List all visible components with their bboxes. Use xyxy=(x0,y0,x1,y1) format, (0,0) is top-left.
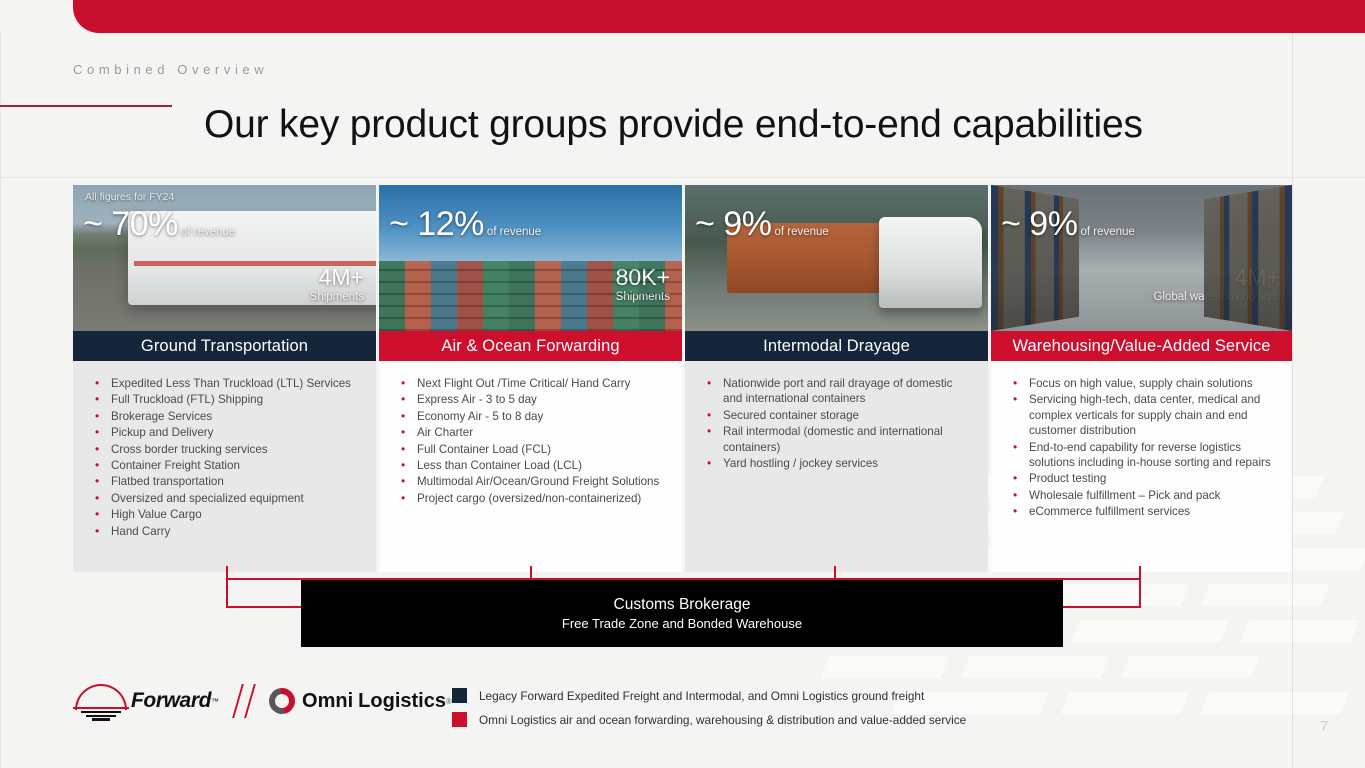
legend-label: Legacy Forward Expedited Freight and Int… xyxy=(479,689,924,703)
left-rule xyxy=(0,33,1,768)
brand-logos: Forward ™ Omni Logistics ® xyxy=(73,683,452,719)
legend-row-legacy-forward: Legacy Forward Expedited Freight and Int… xyxy=(452,688,966,703)
revenue-percent: ~ 9% xyxy=(695,205,771,244)
customs-brokerage-banner[interactable]: Customs Brokerage Free Trade Zone and Bo… xyxy=(301,580,1063,647)
revenue-percent-caption: of revenue xyxy=(1080,226,1134,238)
list-item: End-to-end capability for reverse logist… xyxy=(1011,440,1278,471)
list-item: Nationwide port and rail drayage of dome… xyxy=(705,376,974,407)
omni-wordmark-bold: Omni xyxy=(302,690,353,713)
revenue-percent-caption: of revenue xyxy=(181,226,235,238)
list-item: Multimodal Air/Ocean/Ground Freight Solu… xyxy=(399,474,668,489)
metric-label: Global warehousing sqft. xyxy=(1153,289,1280,305)
list-item: Pickup and Delivery xyxy=(93,425,362,440)
card-body: Focus on high value, supply chain soluti… xyxy=(991,361,1292,572)
list-item: Expedited Less Than Truckload (LTL) Serv… xyxy=(93,376,362,391)
list-item: High Value Cargo xyxy=(93,507,362,522)
feature-list: Expedited Less Than Truckload (LTL) Serv… xyxy=(93,376,362,539)
list-item: Flatbed transportation xyxy=(93,474,362,489)
metric-label: Shipments xyxy=(616,289,670,305)
card-ground-transportation[interactable]: All figures for FY24 ~ 70% of revenue 4M… xyxy=(73,185,376,572)
feature-list: Next Flight Out /Time Critical/ Hand Car… xyxy=(399,376,668,506)
customs-title: Customs Brokerage xyxy=(614,595,751,615)
legend: Legacy Forward Expedited Freight and Int… xyxy=(452,688,966,736)
card-header-bar: Ground Transportation xyxy=(73,331,376,361)
card-metric: 4M+ Shipments xyxy=(310,265,364,305)
list-item: Container Freight Station xyxy=(93,458,362,473)
list-item: Express Air - 3 to 5 day xyxy=(399,392,668,407)
card-warehousing-value-added-service[interactable]: ~ 9% of revenue 4M+ Global warehousing s… xyxy=(991,185,1292,572)
omni-trademark: ® xyxy=(446,697,452,706)
list-item: Project cargo (oversized/non-containeriz… xyxy=(399,491,668,506)
revenue-percent: ~ 70% xyxy=(83,205,178,244)
forward-logo: Forward ™ xyxy=(73,683,219,719)
metric-label: Shipments xyxy=(909,289,976,305)
omni-swirl-icon xyxy=(269,688,295,714)
card-photo-drayage-truck: ~ 9% of revenue 250K+ Shipments xyxy=(685,185,988,331)
list-item: eCommerce fulfillment services xyxy=(1011,504,1278,519)
list-item: Focus on high value, supply chain soluti… xyxy=(1011,376,1278,391)
revenue-percent: ~ 12% xyxy=(389,205,484,244)
logo-divider-slashes xyxy=(229,684,263,718)
list-item: Wholesale fulfillment – Pick and pack xyxy=(1011,488,1278,503)
card-photo-truck: All figures for FY24 ~ 70% of revenue 4M… xyxy=(73,185,376,331)
card-body: Next Flight Out /Time Critical/ Hand Car… xyxy=(379,361,682,572)
list-item: Less than Container Load (LCL) xyxy=(399,458,668,473)
card-air-ocean-forwarding[interactable]: ~ 12% of revenue 80K+ Shipments Air & Oc… xyxy=(379,185,682,572)
list-item: Yard hostling / jockey services xyxy=(705,456,974,471)
page-number: 7 xyxy=(1320,718,1328,735)
connector-bracket-left-foot xyxy=(226,606,304,608)
revenue-share: ~ 9% of revenue xyxy=(1001,205,1135,244)
list-item: Servicing high-tech, data center, medica… xyxy=(1011,392,1278,438)
forward-wordmark: Forward xyxy=(131,689,211,713)
list-item: Full Container Load (FCL) xyxy=(399,442,668,457)
metric-value: 4M+ xyxy=(310,265,364,289)
right-rule xyxy=(1292,33,1293,768)
list-item: Economy Air - 5 to 8 day xyxy=(399,409,668,424)
list-item: Air Charter xyxy=(399,425,668,440)
card-header-bar: Intermodal Drayage xyxy=(685,331,988,361)
connector-bracket-left-leg xyxy=(226,578,228,608)
content-band-rule xyxy=(0,177,1365,178)
list-item: Full Truckload (FTL) Shipping xyxy=(93,392,362,407)
list-item: Product testing xyxy=(1011,471,1278,486)
card-photo-plane-containers: ~ 12% of revenue 80K+ Shipments xyxy=(379,185,682,331)
top-red-banner xyxy=(73,0,1365,33)
list-item: Next Flight Out /Time Critical/ Hand Car… xyxy=(399,376,668,391)
legend-label: Omni Logistics air and ocean forwarding,… xyxy=(479,713,966,727)
metric-value: 250K+ xyxy=(909,265,976,289)
card-body: Nationwide port and rail drayage of dome… xyxy=(685,361,988,572)
revenue-share: ~ 70% of revenue xyxy=(83,205,235,244)
card-metric: 250K+ Shipments xyxy=(909,265,976,305)
customs-subtitle: Free Trade Zone and Bonded Warehouse xyxy=(562,615,802,633)
card-photo-warehouse: ~ 9% of revenue 4M+ Global warehousing s… xyxy=(991,185,1292,331)
omni-wordmark-light: Logistics xyxy=(358,690,446,713)
connector-drop-card2 xyxy=(530,566,532,579)
connector-bracket-right-leg xyxy=(1139,578,1141,608)
list-item: Cross border trucking services xyxy=(93,442,362,457)
metric-value: 80K+ xyxy=(616,265,670,289)
revenue-percent-caption: of revenue xyxy=(774,226,828,238)
legend-swatch-red xyxy=(452,712,467,727)
forward-sunset-icon xyxy=(73,683,129,719)
revenue-percent-caption: of revenue xyxy=(487,226,541,238)
list-item: Brokerage Services xyxy=(93,409,362,424)
slide: Combined Overview Our key product groups… xyxy=(0,0,1365,768)
product-group-cards: All figures for FY24 ~ 70% of revenue 4M… xyxy=(73,185,1292,572)
card-body: Expedited Less Than Truckload (LTL) Serv… xyxy=(73,361,376,572)
card-intermodal-drayage[interactable]: ~ 9% of revenue 250K+ Shipments Intermod… xyxy=(685,185,988,572)
connector-bracket-right-foot xyxy=(1062,606,1140,608)
metric-value: 4M+ xyxy=(1153,265,1280,289)
forward-trademark: ™ xyxy=(211,697,219,706)
revenue-share: ~ 9% of revenue xyxy=(695,205,829,244)
card-metric: 80K+ Shipments xyxy=(616,265,670,305)
eyebrow-label: Combined Overview xyxy=(73,62,268,77)
legend-swatch-navy xyxy=(452,688,467,703)
list-item: Rail intermodal (domestic and internatio… xyxy=(705,424,974,455)
metric-label: Shipments xyxy=(310,289,364,305)
list-item: Secured container storage xyxy=(705,408,974,423)
feature-list: Focus on high value, supply chain soluti… xyxy=(1011,376,1278,520)
figures-note: All figures for FY24 xyxy=(85,191,174,203)
legend-row-omni-logistics: Omni Logistics air and ocean forwarding,… xyxy=(452,712,966,727)
revenue-share: ~ 12% of revenue xyxy=(389,205,541,244)
page-title: Our key product groups provide end-to-en… xyxy=(204,103,1264,147)
feature-list: Nationwide port and rail drayage of dome… xyxy=(705,376,974,471)
list-item: Oversized and specialized equipment xyxy=(93,491,362,506)
card-header-bar: Warehousing/Value-Added Service xyxy=(991,331,1292,361)
revenue-percent: ~ 9% xyxy=(1001,205,1077,244)
title-accent-rule xyxy=(0,105,172,107)
connector-drop-card3 xyxy=(834,566,836,579)
omni-logistics-logo: Omni Logistics ® xyxy=(269,688,452,714)
card-metric: 4M+ Global warehousing sqft. xyxy=(1153,265,1280,305)
list-item: Hand Carry xyxy=(93,524,362,539)
card-header-bar: Air & Ocean Forwarding xyxy=(379,331,682,361)
